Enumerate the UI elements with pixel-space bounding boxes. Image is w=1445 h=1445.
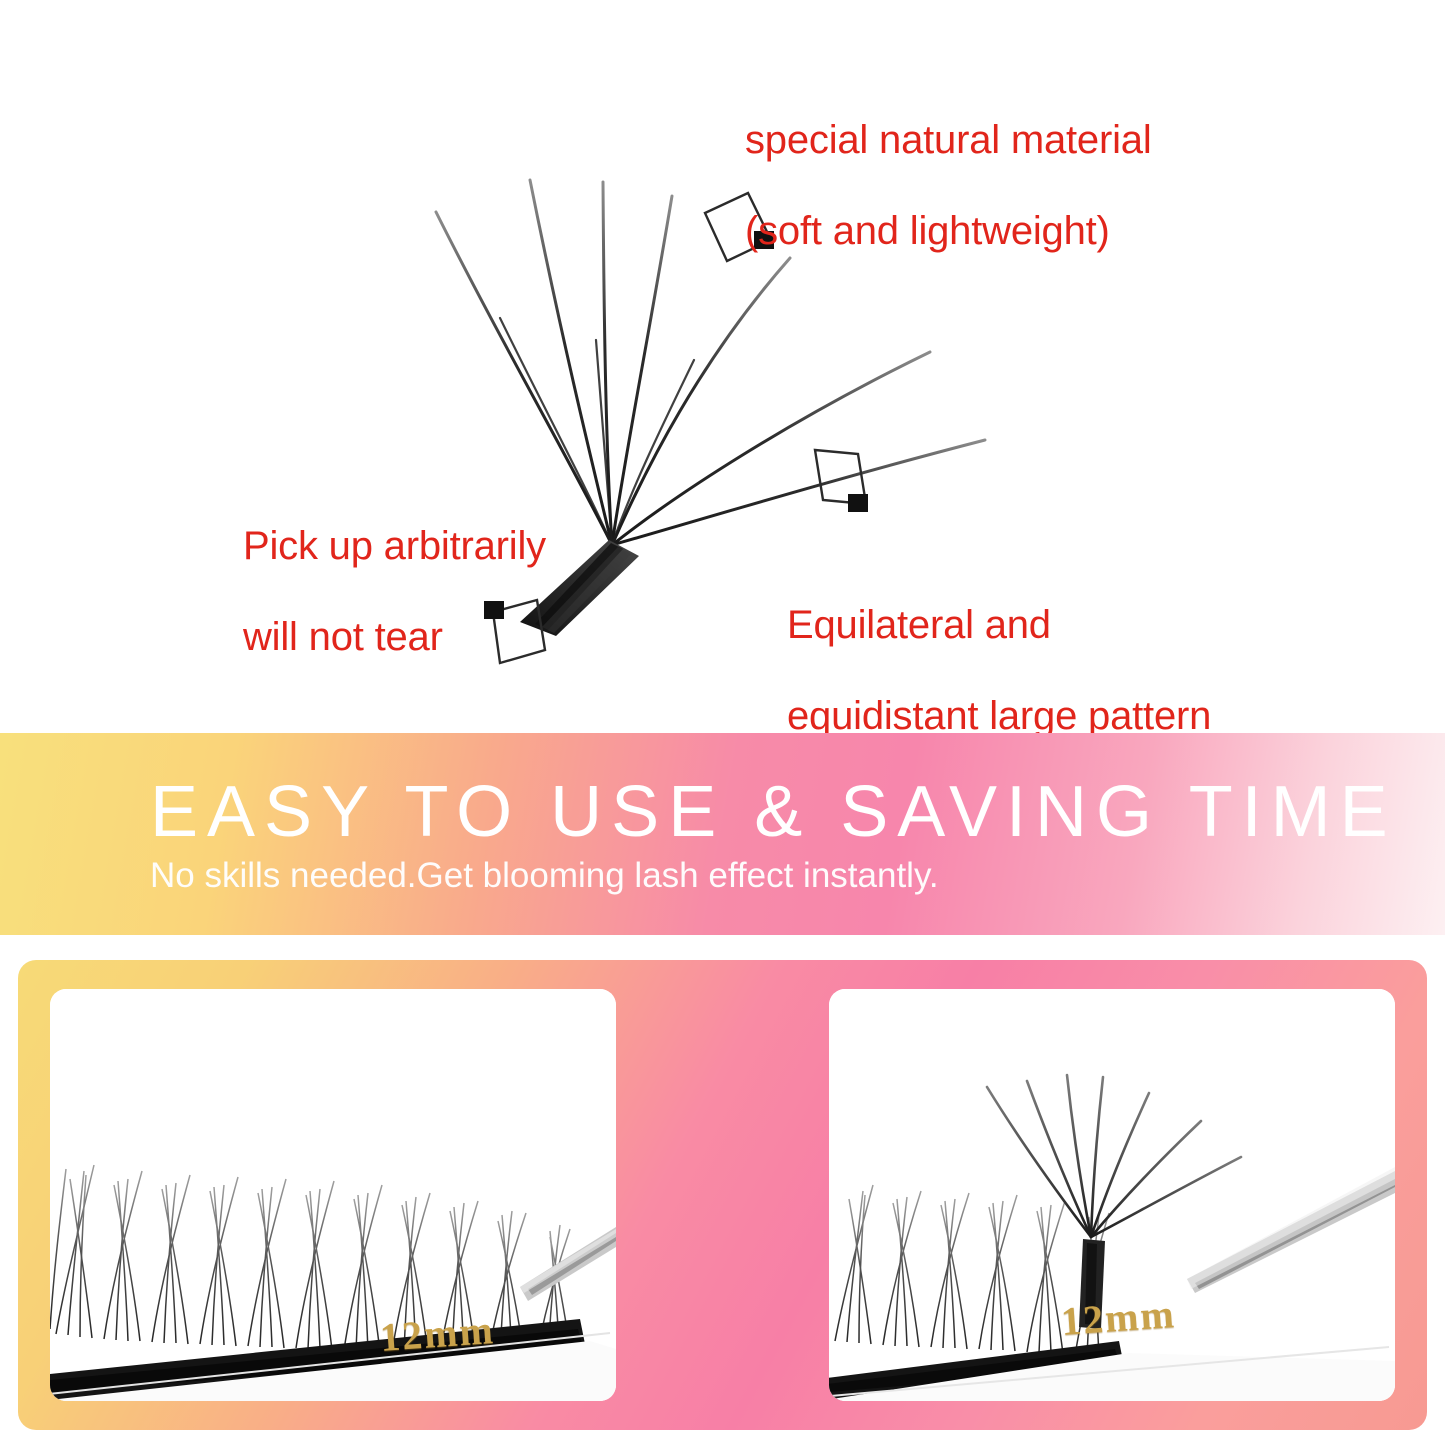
callout-equilateral-line2: equidistant large pattern <box>787 694 1211 733</box>
photo-panel: 12mm <box>18 960 1427 1430</box>
banner-subtitle: No skills needed.Get blooming lash effec… <box>150 858 1445 893</box>
callout-pick-line2: will not tear <box>243 615 546 661</box>
callout-equilateral-equidistant: Equilateral and equidistant large patter… <box>787 557 1211 733</box>
callout-material-line2: (soft and lightweight) <box>745 209 1152 255</box>
photo-card-left: 12mm <box>50 989 616 1401</box>
lash-fan-diagram <box>0 0 1445 733</box>
callout-special-natural-material: special natural material (soft and light… <box>745 72 1152 300</box>
callout-material-line1: special natural material <box>745 118 1152 164</box>
lash-tray-photo <box>50 989 616 1401</box>
callout-marker-middle <box>815 450 868 512</box>
infographic-page: special natural material (soft and light… <box>0 0 1445 1445</box>
diagram-section: special natural material (soft and light… <box>0 0 1445 733</box>
callout-pick-up-arbitrarily: Pick up arbitrarily will not tear <box>243 478 546 706</box>
banner-title: EASY TO USE & SAVING TIME <box>150 776 1445 848</box>
lash-fan-picked-photo <box>829 989 1395 1401</box>
callout-pick-line1: Pick up arbitrarily <box>243 524 546 570</box>
feature-banner: EASY TO USE & SAVING TIME No skills need… <box>0 733 1445 935</box>
photo-card-right: 12mm <box>829 989 1395 1401</box>
callout-equilateral-line1: Equilateral and <box>787 603 1211 649</box>
